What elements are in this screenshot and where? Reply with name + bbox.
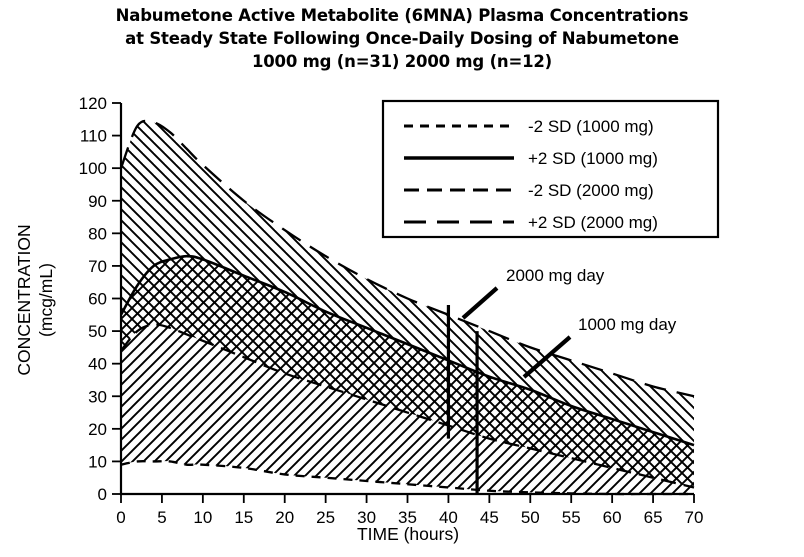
y-tick-label: 30 bbox=[88, 387, 107, 406]
y-tick-label: 20 bbox=[88, 420, 107, 439]
x-tick-label: 45 bbox=[480, 508, 499, 527]
x-tick-label: 25 bbox=[316, 508, 335, 527]
y-axis-title-main: CONCENTRATION bbox=[14, 224, 34, 375]
y-tick-label: 50 bbox=[88, 322, 107, 341]
x-axis-ticks: 0510152025303540455055606570 bbox=[116, 494, 703, 527]
y-tick-label: 0 bbox=[98, 485, 107, 504]
y-tick-label: 110 bbox=[80, 127, 107, 146]
x-tick-label: 70 bbox=[685, 508, 704, 527]
y-tick-label: 10 bbox=[88, 452, 107, 471]
y-axis-title-units: (mcg/mL) bbox=[36, 263, 56, 337]
x-tick-label: 65 bbox=[644, 508, 663, 527]
x-tick-label: 5 bbox=[157, 508, 166, 527]
plot-svg: 0102030405060708090100110120 05101520253… bbox=[0, 0, 804, 557]
legend-label: -2 SD (1000 mg) bbox=[528, 117, 654, 136]
y-tick-label: 70 bbox=[88, 257, 107, 276]
x-tick-label: 10 bbox=[193, 508, 212, 527]
y-axis-ticks: 0102030405060708090100110120 bbox=[79, 94, 121, 504]
y-tick-label: 40 bbox=[88, 355, 107, 374]
y-tick-label: 80 bbox=[88, 224, 107, 243]
x-tick-label: 60 bbox=[603, 508, 622, 527]
x-tick-label: 0 bbox=[116, 508, 125, 527]
annotation-label: 1000 mg day bbox=[578, 315, 677, 334]
legend-label: +2 SD (2000 mg) bbox=[528, 213, 658, 232]
y-tick-label: 100 bbox=[79, 159, 107, 178]
x-tick-label: 20 bbox=[275, 508, 294, 527]
y-tick-label: 120 bbox=[79, 94, 107, 113]
x-tick-label: 55 bbox=[562, 508, 581, 527]
legend: -2 SD (1000 mg)+2 SD (1000 mg)-2 SD (200… bbox=[383, 101, 718, 237]
legend-label: +2 SD (1000 mg) bbox=[528, 149, 658, 168]
chart-page: Nabumetone Active Metabolite (6MNA) Plas… bbox=[0, 0, 804, 557]
x-tick-label: 50 bbox=[521, 508, 540, 527]
legend-label: -2 SD (2000 mg) bbox=[528, 181, 654, 200]
annotation-label: 2000 mg day bbox=[506, 266, 605, 285]
y-tick-label: 60 bbox=[88, 290, 107, 309]
y-tick-label: 90 bbox=[88, 192, 107, 211]
x-axis-title: TIME (hours) bbox=[357, 524, 459, 544]
leader-line bbox=[463, 288, 497, 318]
x-tick-label: 15 bbox=[234, 508, 253, 527]
